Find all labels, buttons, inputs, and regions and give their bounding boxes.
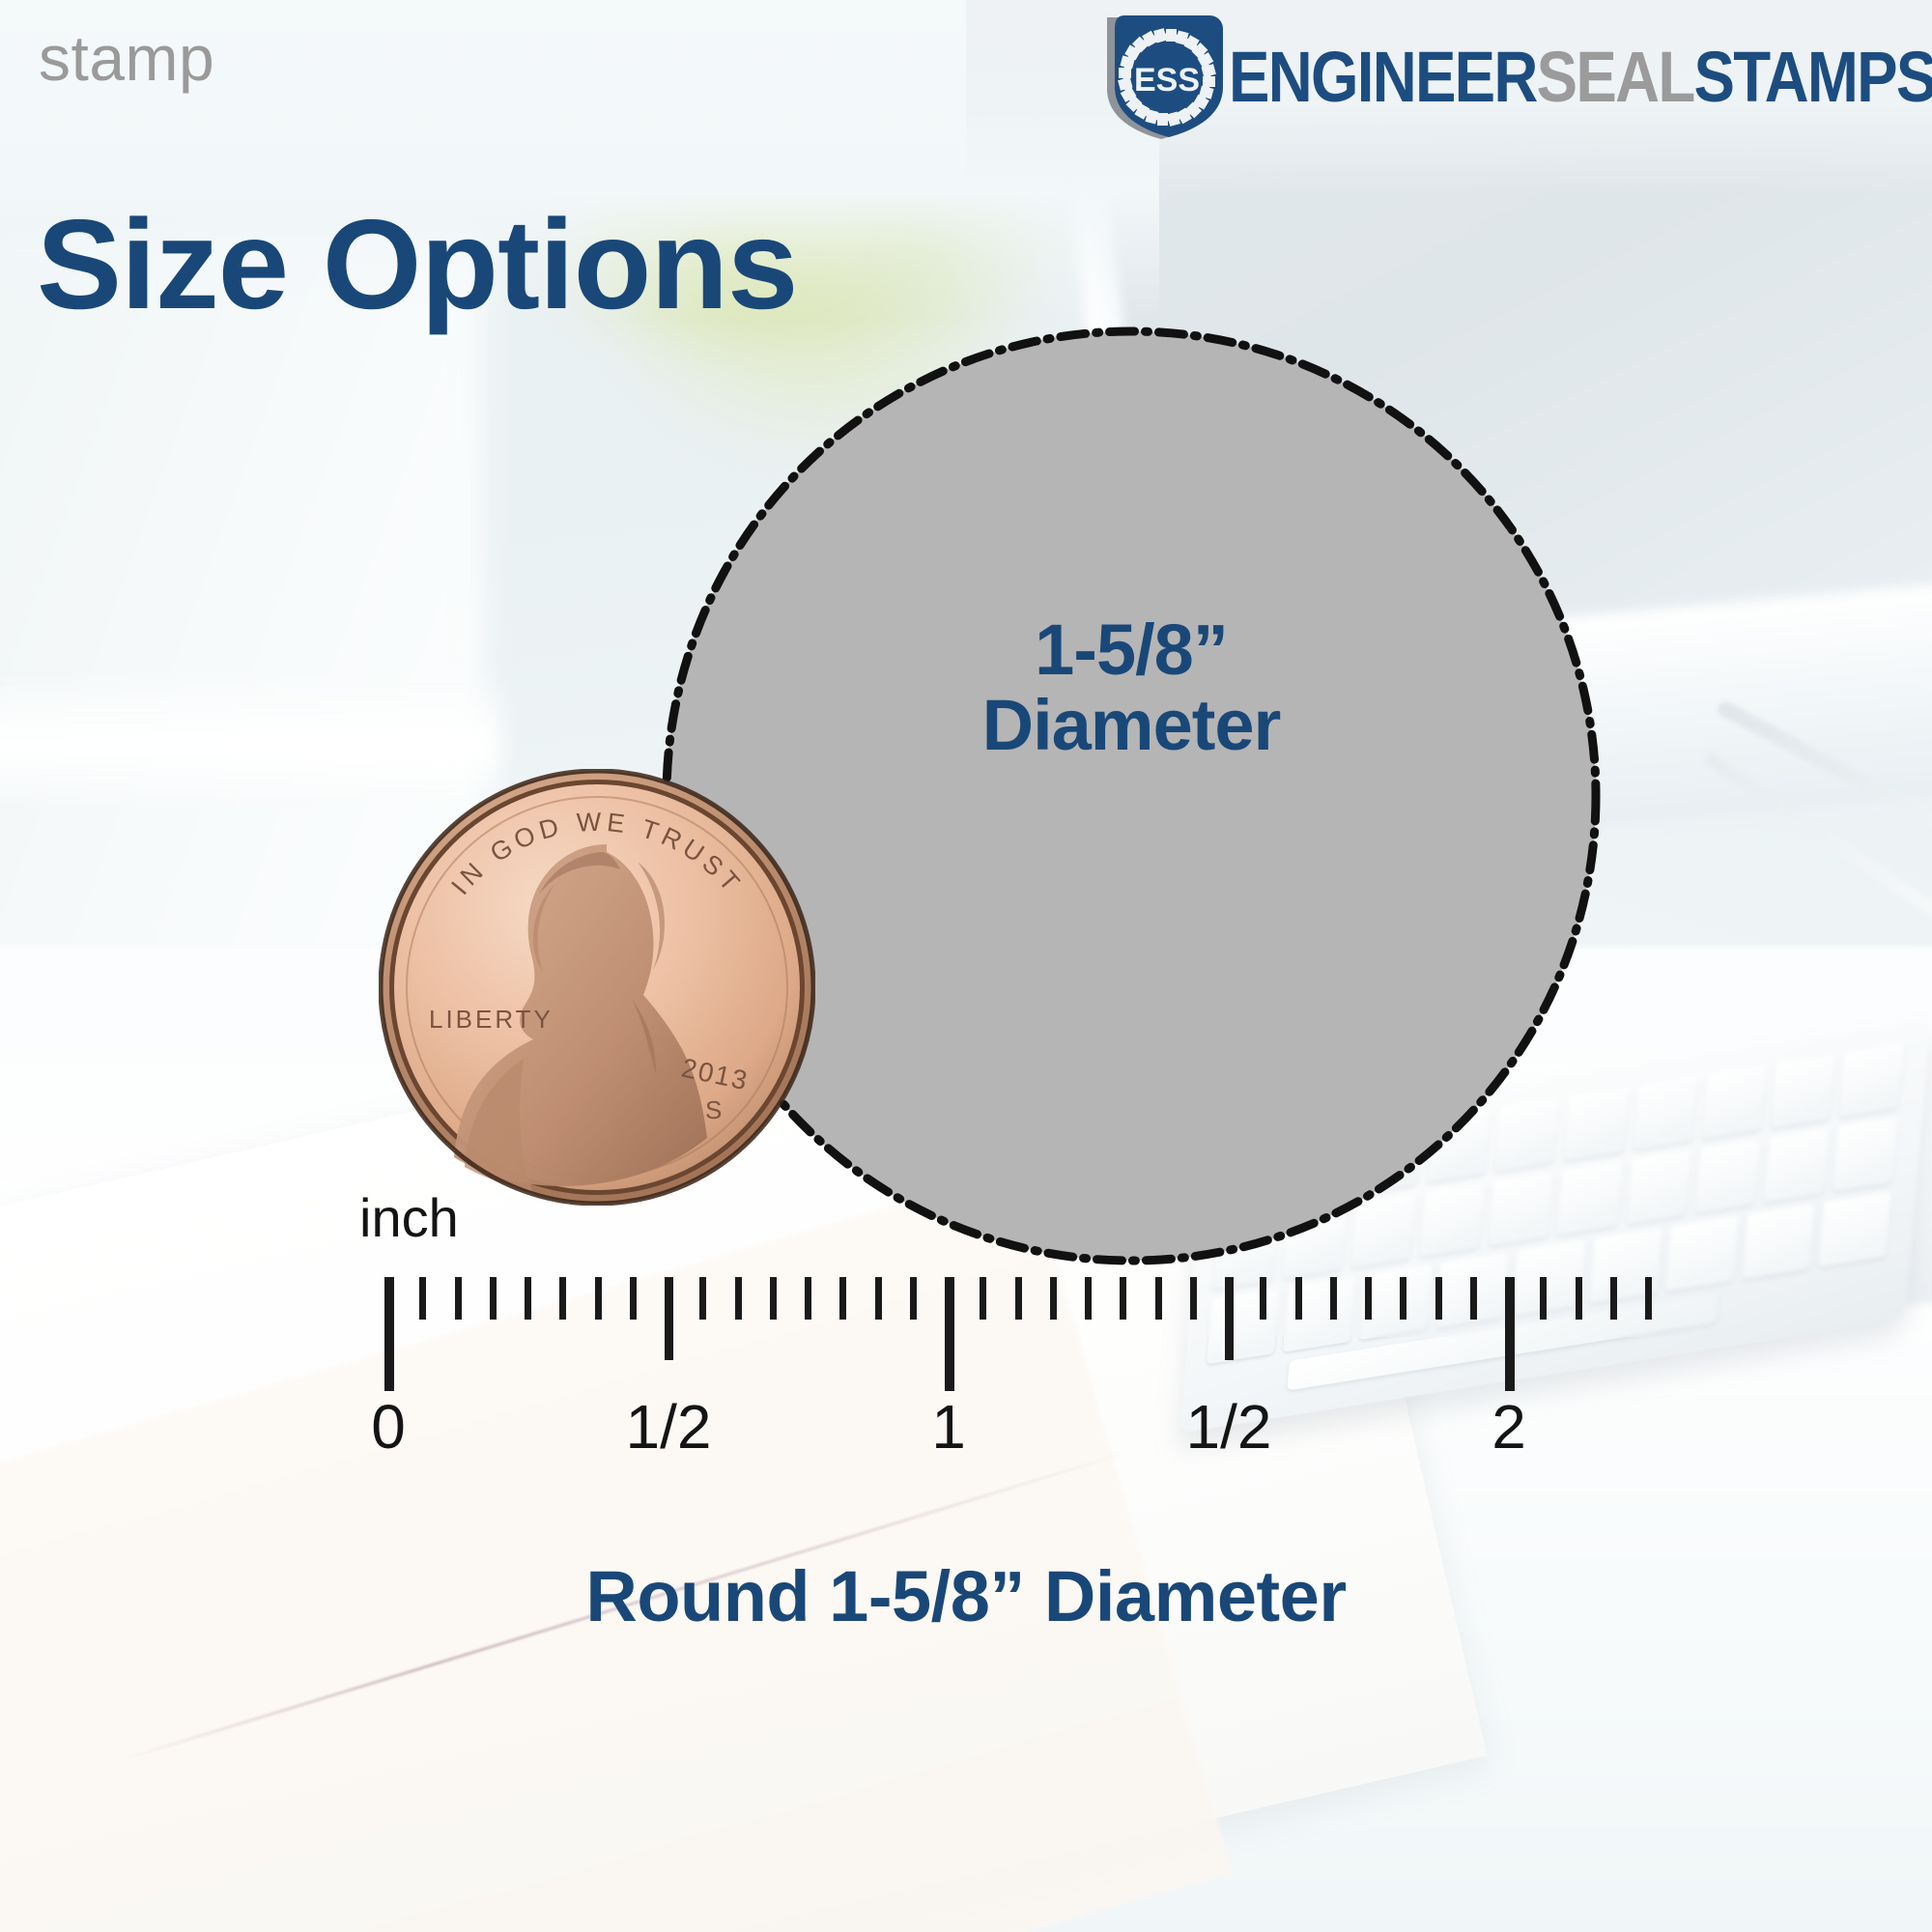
- ruler-tick: [1190, 1277, 1197, 1320]
- ruler-tick: [1610, 1277, 1617, 1320]
- ruler-tick: [1505, 1277, 1515, 1391]
- coin-mintmark: S: [705, 1095, 722, 1124]
- ruler-tick: [945, 1277, 954, 1391]
- stamp-size-unit: Diameter: [662, 688, 1601, 763]
- ruler-label: 2: [1492, 1391, 1526, 1463]
- ruler-tick: [1050, 1277, 1057, 1320]
- ruler-unit-label: inch: [359, 1186, 459, 1249]
- ruler-tick: [980, 1277, 986, 1320]
- ruler-tick: [455, 1277, 462, 1320]
- ruler-tick: [1365, 1277, 1372, 1320]
- penny-coin-image: IN GOD WE TRUST LIBERTY 2013 S: [379, 769, 815, 1206]
- ruler-tick: [1330, 1277, 1337, 1320]
- ruler-label: 1: [931, 1391, 966, 1463]
- stamp-size-label: 1-5/8” Diameter: [662, 612, 1601, 764]
- ess-shield-icon: ESS: [1101, 14, 1223, 141]
- inch-ruler: inch 01/211/22: [0, 1236, 1932, 1555]
- ruler-tick: [490, 1277, 497, 1320]
- ruler-tick: [910, 1277, 917, 1320]
- ruler-tick: [525, 1277, 531, 1320]
- size-caption: Round 1-5/8” Diameter: [0, 1555, 1932, 1637]
- ruler-tick: [1120, 1277, 1126, 1320]
- page-title: Size Options: [37, 201, 797, 328]
- ruler-tick: [805, 1277, 811, 1320]
- ruler-label: 0: [371, 1391, 406, 1463]
- ruler-tick: [595, 1277, 602, 1320]
- stamp-size-value: 1-5/8”: [662, 612, 1601, 688]
- logo-word-stamps: STAMPS: [1693, 42, 1932, 113]
- ruler-tick: [699, 1277, 706, 1320]
- ruler-label: 1/2: [626, 1391, 712, 1463]
- ruler-tick: [1085, 1277, 1092, 1320]
- ruler-tick: [1470, 1277, 1477, 1320]
- ruler-tick: [1540, 1277, 1547, 1320]
- ruler-tick: [419, 1277, 426, 1320]
- ess-wordmark: ENGINEERSEALSTAMPS.COM: [1229, 42, 1932, 113]
- ruler-tick: [1435, 1277, 1442, 1320]
- logo-word-seal: SEAL: [1537, 42, 1694, 113]
- ruler-tick: [1645, 1277, 1652, 1320]
- ess-mark-text: ESS: [1134, 62, 1200, 99]
- ruler-tick: [1576, 1277, 1582, 1320]
- ruler-label: 1/2: [1186, 1391, 1272, 1463]
- ruler-tick: [839, 1277, 846, 1320]
- coin-liberty: LIBERTY: [429, 1005, 554, 1034]
- ruler-tick: [665, 1277, 673, 1360]
- ruler-tick: [735, 1277, 742, 1320]
- ruler-tick: [875, 1277, 882, 1320]
- ess-logo[interactable]: ESS ENGINEERSEALSTAMPS.COM: [1101, 14, 1932, 141]
- ruler-tick: [1015, 1277, 1022, 1320]
- ruler-tick: [1225, 1277, 1234, 1360]
- eyebrow-label: stamp: [39, 21, 214, 95]
- logo-word-engineer: ENGINEER: [1229, 42, 1537, 113]
- ruler-tick: [559, 1277, 566, 1320]
- ruler-tick: [1260, 1277, 1266, 1320]
- ruler-tick: [1295, 1277, 1302, 1320]
- ruler-tick: [770, 1277, 777, 1320]
- ruler-tick: [1400, 1277, 1406, 1320]
- ruler-tick: [1155, 1277, 1162, 1320]
- size-options-graphic: stamp Size Options: [0, 0, 1932, 1932]
- ruler-tick: [384, 1277, 394, 1391]
- ruler-tick: [630, 1277, 637, 1320]
